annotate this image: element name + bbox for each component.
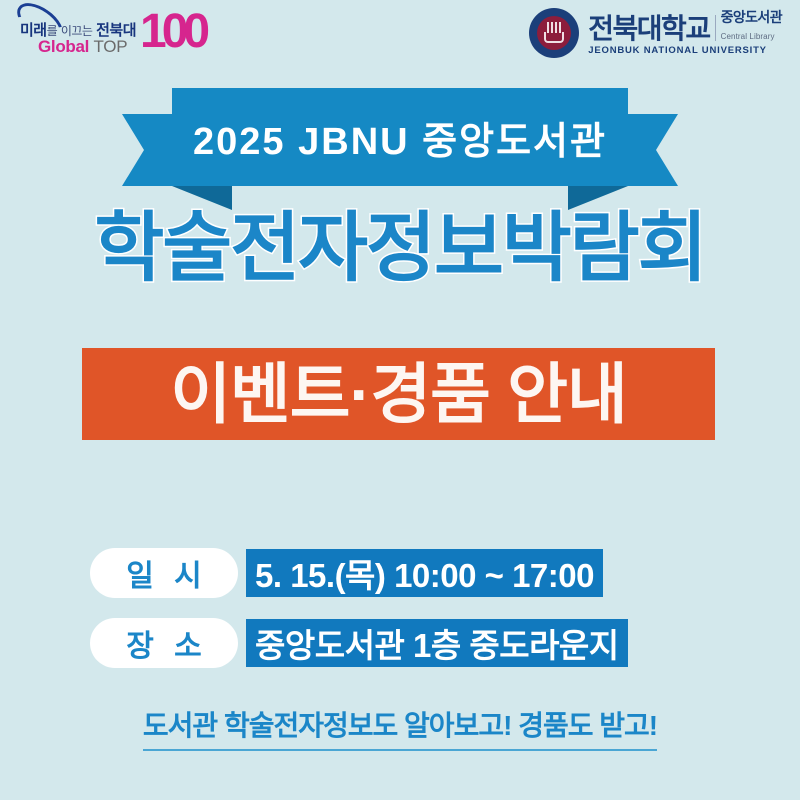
ribbon-title: 2025 JBNU 중앙도서관: [193, 110, 607, 165]
global-top-100-logo: 미래를 이끄는 전북대 Global TOP 100: [12, 6, 212, 58]
university-name-en: JEONBUK NATIONAL UNIVERSITY: [588, 45, 782, 56]
tagline: 도서관 학술전자정보도 알아보고! 경품도 받고!: [0, 704, 800, 751]
library-name-kr: 중앙도서관: [721, 9, 782, 25]
jbnu-seal-inner: [537, 16, 571, 50]
ribbon-banner: 2025 JBNU 중앙도서관: [0, 88, 800, 198]
event-banner: 이벤트·경품 안내: [82, 348, 715, 440]
info-label-date: 일 시: [90, 548, 238, 598]
info-row-place: 장 소 중앙도서관 1층 중도라운지: [90, 618, 628, 668]
ribbon-bar: 2025 JBNU 중앙도서관: [172, 88, 628, 186]
brand-top-word: TOP: [94, 37, 128, 56]
info-value-place: 중앙도서관 1층 중도라운지: [246, 619, 628, 667]
university-name-row: 전북대학교 중앙도서관 Central Library: [588, 10, 782, 44]
info-value-date: 5. 15.(목) 10:00 ~ 17:00: [246, 549, 603, 597]
info-label-place: 장 소: [90, 618, 238, 668]
brand-number-100: 100: [140, 8, 205, 56]
jbnu-seal-icon: [529, 8, 579, 58]
brand-global-word: Global: [38, 37, 89, 56]
event-banner-text: 이벤트·경품 안내: [170, 359, 626, 429]
library-name-en: Central Library: [721, 32, 775, 41]
university-library-logo: 전북대학교 중앙도서관 Central Library JEONBUK NATI…: [529, 4, 782, 62]
info-row-date: 일 시 5. 15.(목) 10:00 ~ 17:00: [90, 548, 603, 598]
page-title: 학술전자정보박람회: [0, 203, 800, 295]
brand-global-top-line: Global TOP: [38, 37, 127, 57]
brand-tagline-particle: 를: [47, 24, 58, 38]
university-name-kr: 전북대학교: [588, 14, 709, 43]
library-name-block: 중앙도서관 Central Library: [721, 10, 782, 44]
logo-divider: [715, 15, 716, 41]
brand-tagline-word-2: 이끄는: [61, 24, 93, 38]
tagline-text: 도서관 학술전자정보도 알아보고! 경품도 받고!: [143, 704, 657, 751]
poster-canvas: 미래를 이끄는 전북대 Global TOP 100 전북대학교 중앙도서관 C…: [0, 0, 800, 800]
university-name-block: 전북대학교 중앙도서관 Central Library JEONBUK NATI…: [588, 10, 782, 57]
